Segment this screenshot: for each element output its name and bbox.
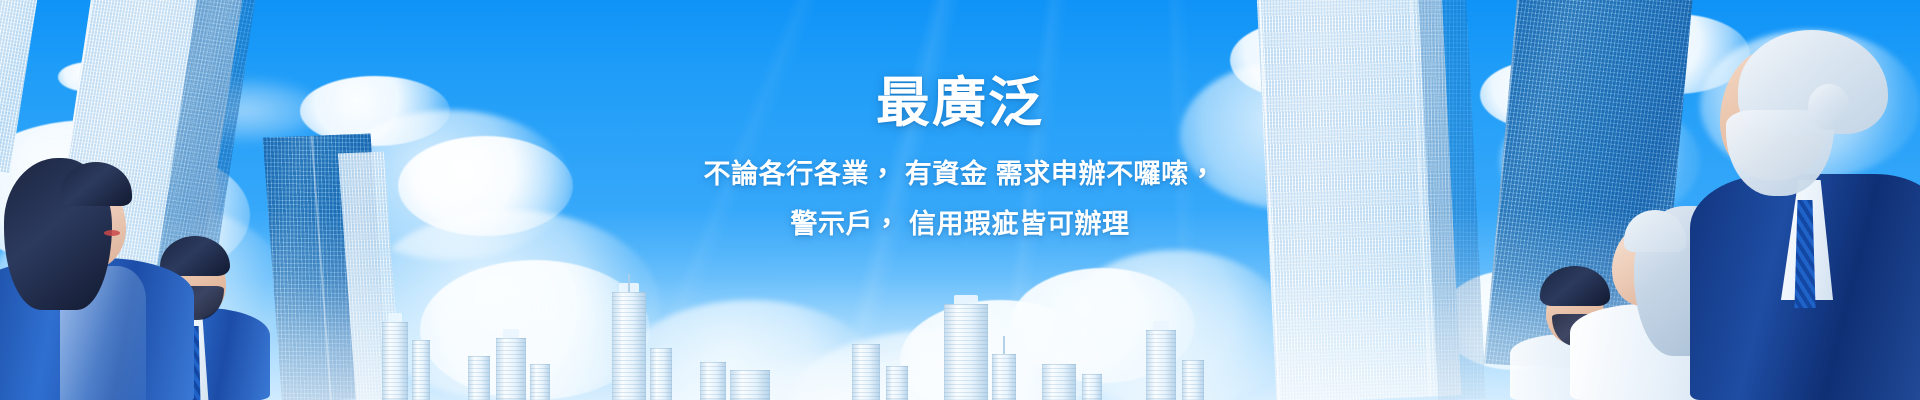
page-title: 最廣泛 xyxy=(0,72,1920,136)
hero-subtitle: 不論各行各業， 有資金 需求申辦不囉嗦， 警示戶， 信用瑕疵皆可辦理 xyxy=(0,150,1920,250)
hero-subtitle-line-1: 不論各行各業， 有資金 需求申辦不囉嗦， xyxy=(0,150,1920,200)
hero-subtitle-line-2: 警示戶， 信用瑕疵皆可辦理 xyxy=(0,200,1920,250)
hero-banner: 最廣泛 不論各行各業， 有資金 需求申辦不囉嗦， 警示戶， 信用瑕疵皆可辦理 xyxy=(0,0,1920,400)
hero-copy: 最廣泛 不論各行各業， 有資金 需求申辦不囉嗦， 警示戶， 信用瑕疵皆可辦理 xyxy=(0,72,1920,250)
